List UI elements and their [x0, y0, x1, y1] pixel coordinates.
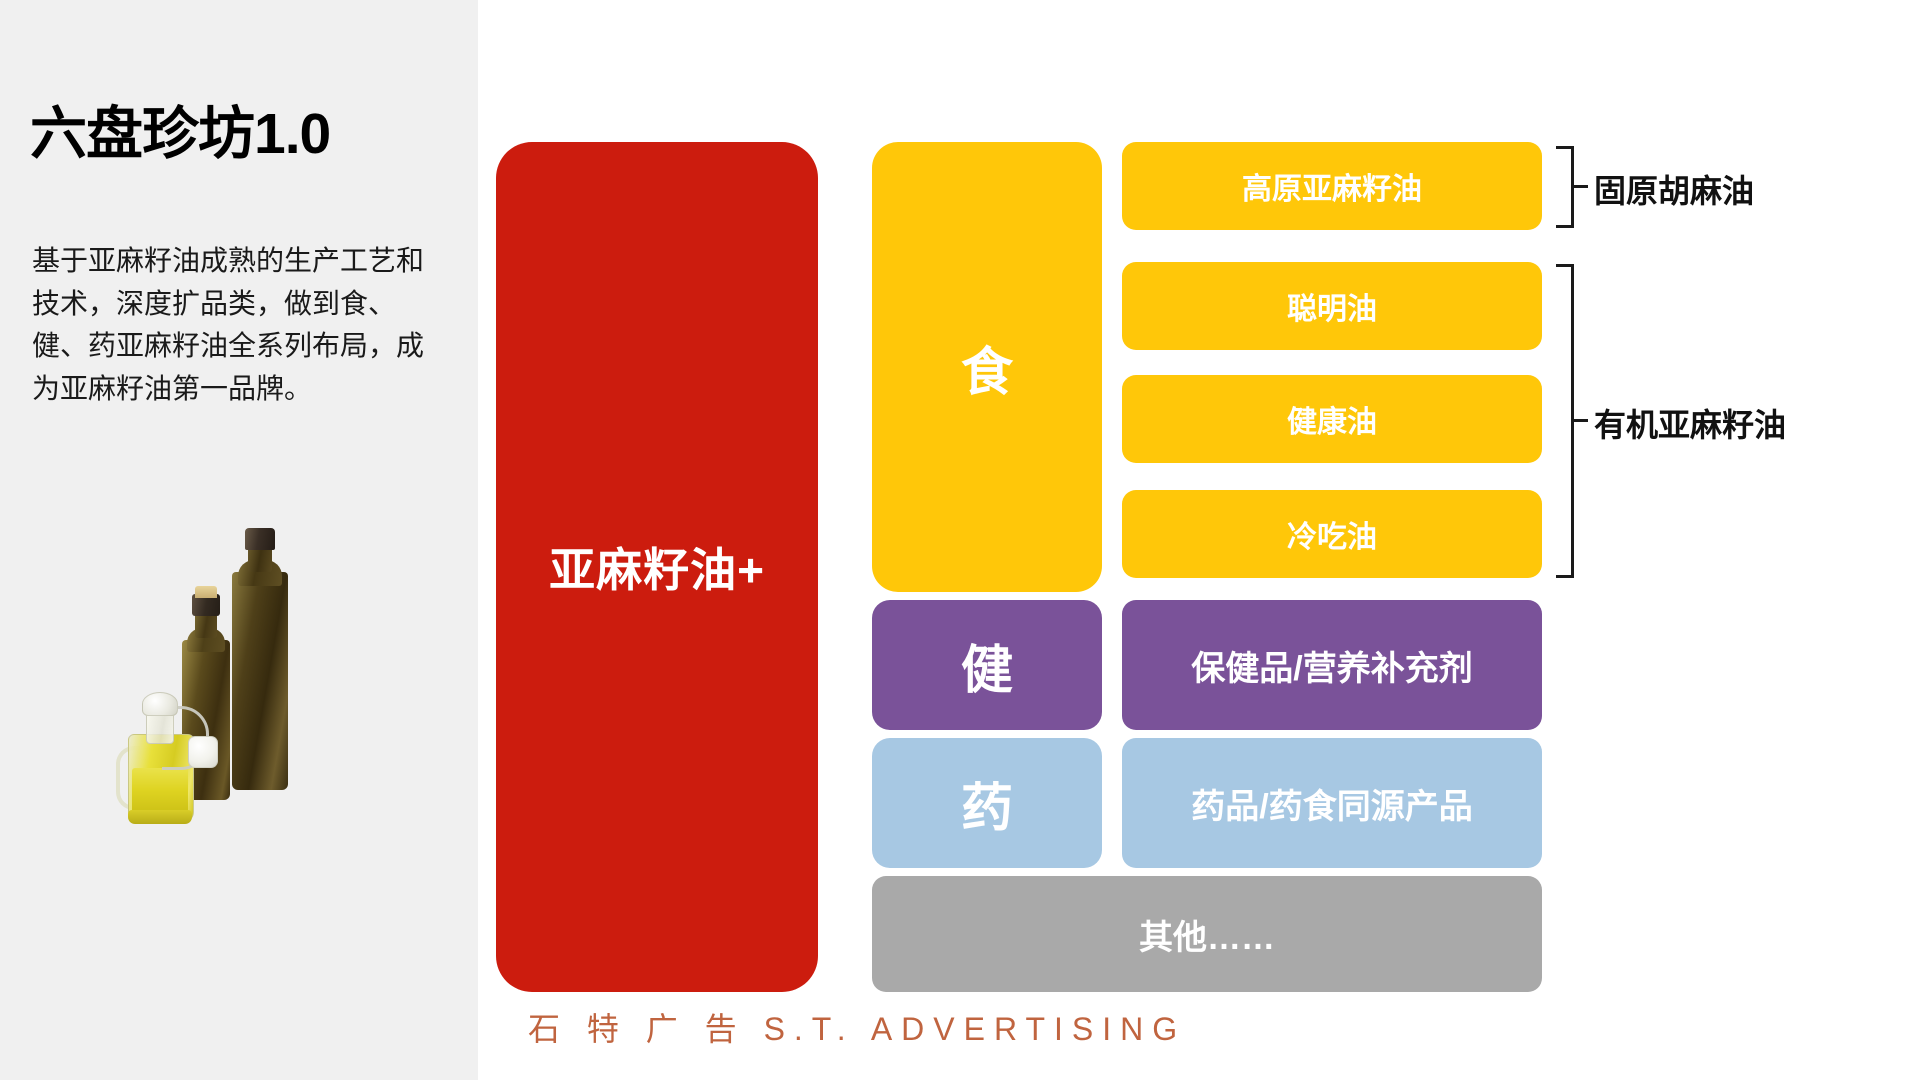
product-box-medicine-products: 药品/药食同源产品: [1122, 738, 1542, 868]
category-box-health: 健: [872, 600, 1102, 730]
annotation-guyuan-hemp-oil: 固原胡麻油: [1594, 166, 1754, 212]
category-box-medicine: 药: [872, 738, 1102, 868]
bracket-youji: [1556, 264, 1574, 578]
slide-canvas: 六盘珍坊1.0 基于亚麻籽油成熟的生产工艺和技术，深度扩品类，做到食、健、药亚麻…: [0, 0, 1920, 1080]
product-architecture-diagram: 亚麻籽油+ 食 健 药 高原亚麻籽油 聪明油 健康油 冷吃油 保健品/营养补充剂…: [0, 0, 1920, 1080]
bracket-tick-youji: [1574, 419, 1588, 422]
bracket-tick-guyuan: [1574, 185, 1588, 188]
product-box-supplements: 保健品/营养补充剂: [1122, 600, 1542, 730]
main-brand-box: 亚麻籽油+: [496, 142, 818, 992]
product-box-health-oil: 健康油: [1122, 375, 1542, 463]
category-box-food: 食: [872, 142, 1102, 592]
annotation-organic-flaxseed-oil: 有机亚麻籽油: [1594, 400, 1786, 446]
product-box-cold-eat-oil: 冷吃油: [1122, 490, 1542, 578]
bracket-guyuan: [1556, 146, 1574, 228]
product-box-smart-oil: 聪明油: [1122, 262, 1542, 350]
footer-agency-mark: 石 特 广 告 S.T. ADVERTISING: [528, 1004, 1186, 1050]
product-box-highland-flaxseed-oil: 高原亚麻籽油: [1122, 142, 1542, 230]
product-box-other: 其他……: [872, 876, 1542, 992]
